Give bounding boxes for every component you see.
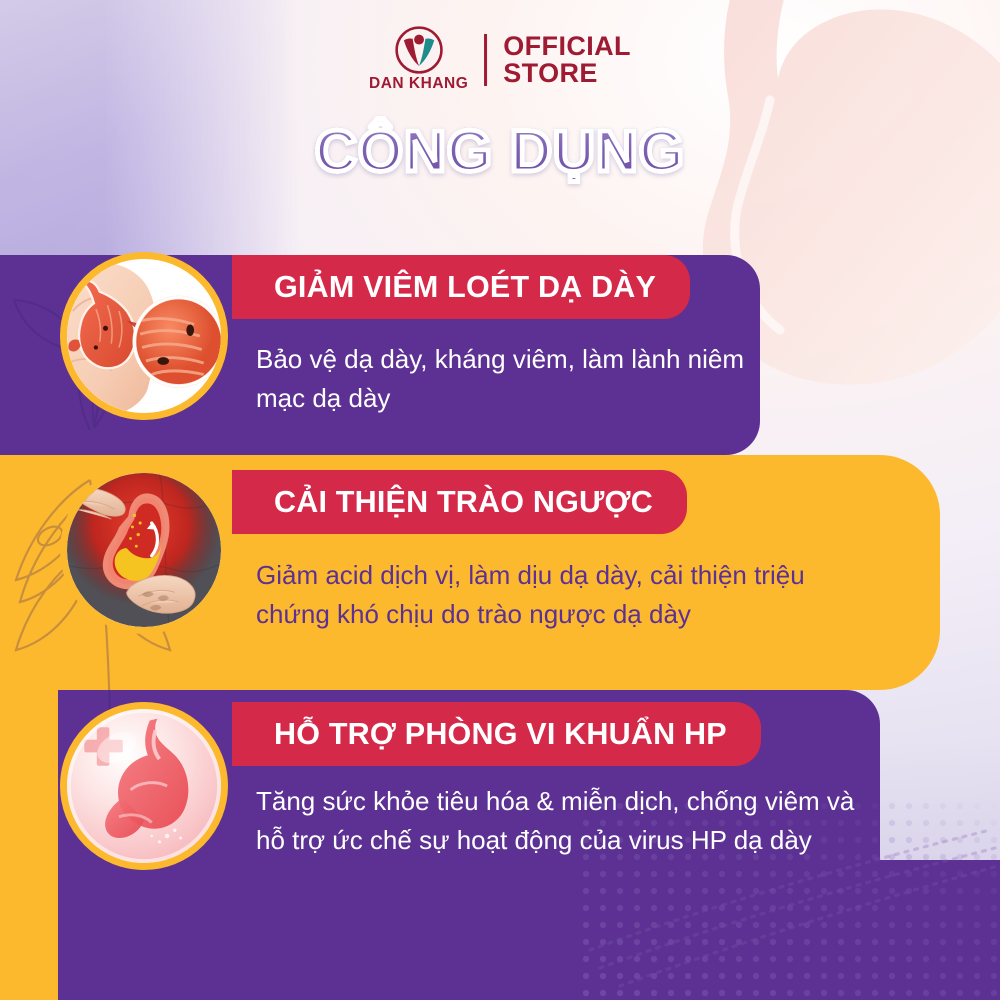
dan-khang-logo-icon bbox=[395, 26, 443, 74]
left-yellow-strip bbox=[0, 690, 58, 1000]
brand-name: DAN KHANG bbox=[369, 75, 468, 93]
feature-3-title-banner: HỖ TRỢ PHÒNG VI KHUẨN HP bbox=[232, 702, 761, 766]
page-title: CÔNG DỤNG bbox=[0, 118, 1000, 185]
feature-3-description: Tăng sức khỏe tiêu hóa & miễn dịch, chốn… bbox=[256, 782, 856, 860]
stomach-protection-cross-icon bbox=[67, 709, 221, 863]
feature-1-title: GIẢM VIÊM LOÉT DẠ DÀY bbox=[274, 270, 656, 305]
official-line-2: STORE bbox=[503, 60, 631, 87]
brand-mark: DAN KHANG bbox=[369, 26, 468, 93]
official-store-label: OFFICIAL STORE bbox=[503, 33, 631, 87]
official-line-1: OFFICIAL bbox=[503, 33, 631, 60]
feature-2-description: Giảm acid dịch vị, làm dịu dạ dày, cải t… bbox=[256, 556, 866, 634]
feature-1-description: Bảo vệ dạ dày, kháng viêm, làm lành niêm… bbox=[256, 340, 776, 418]
feature-1-title-banner: GIẢM VIÊM LOÉT DẠ DÀY bbox=[232, 255, 690, 319]
feature-3-badge bbox=[60, 702, 228, 870]
acid-reflux-photo-icon bbox=[67, 473, 221, 627]
stomach-ulcer-illustration-icon bbox=[67, 259, 221, 413]
brand-divider bbox=[484, 34, 487, 86]
feature-2-title: CẢI THIỆN TRÀO NGƯỢC bbox=[274, 485, 653, 520]
infographic-canvas: DAN KHANG OFFICIAL STORE CÔNG DỤNG bbox=[0, 0, 1000, 1000]
header: DAN KHANG OFFICIAL STORE CÔNG DỤNG bbox=[0, 0, 1000, 210]
feature-2-badge bbox=[60, 466, 228, 634]
feature-2-title-banner: CẢI THIỆN TRÀO NGƯỢC bbox=[232, 470, 687, 534]
feature-3-title: HỖ TRỢ PHÒNG VI KHUẨN HP bbox=[274, 717, 727, 752]
brand-lockup: DAN KHANG OFFICIAL STORE bbox=[369, 26, 631, 93]
feature-1-badge bbox=[60, 252, 228, 420]
